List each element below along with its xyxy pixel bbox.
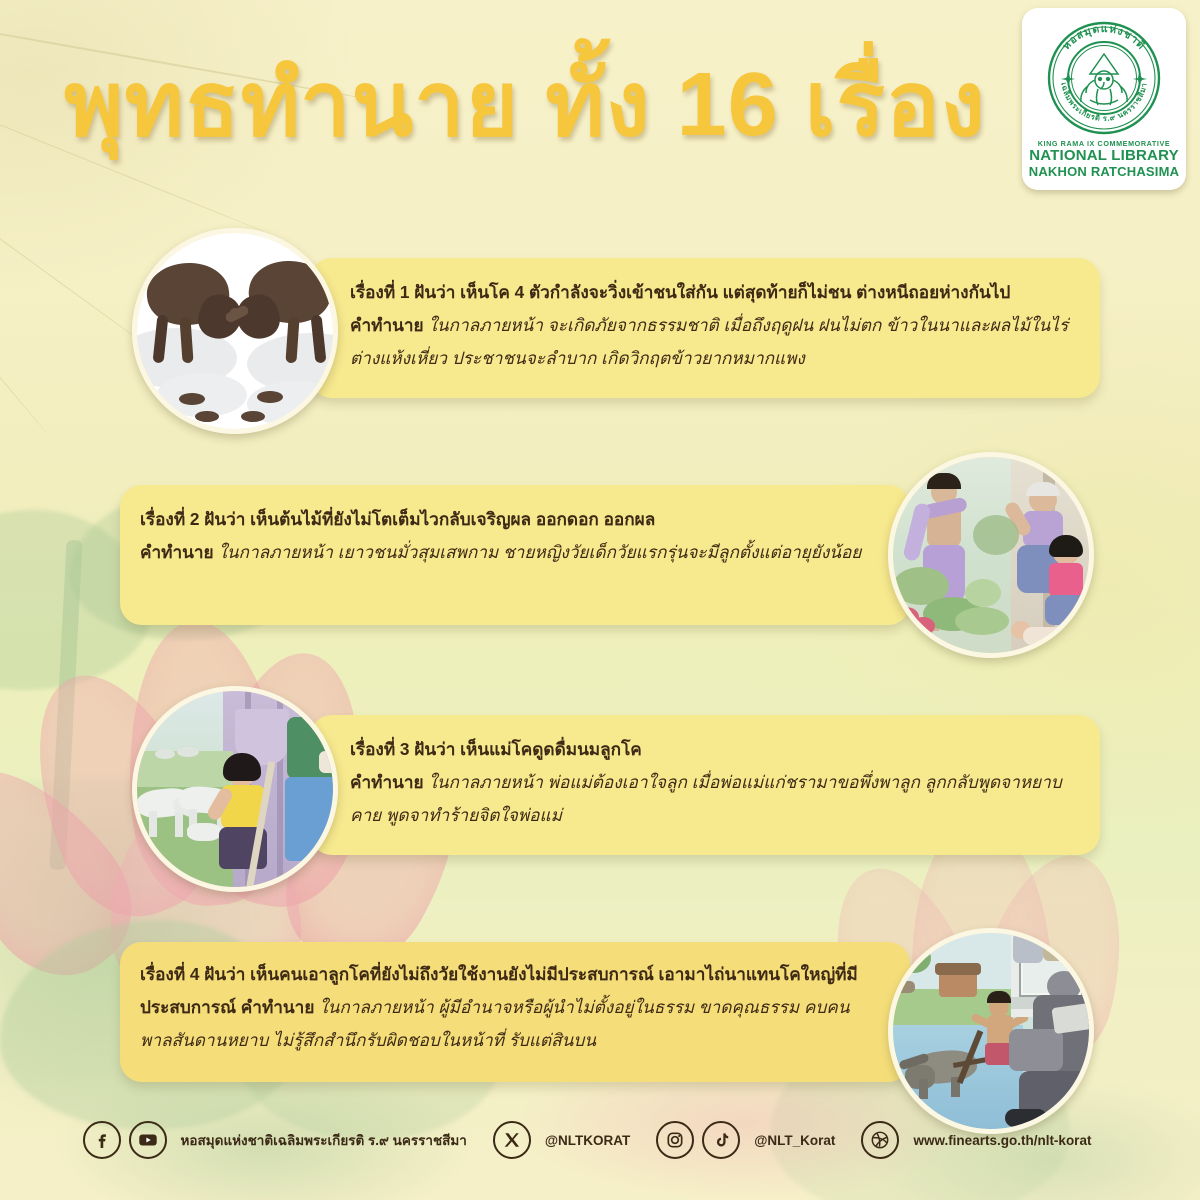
facebook-icon[interactable]	[83, 1121, 121, 1159]
footer-label-x: @NLTKORAT	[545, 1133, 630, 1148]
footer-item-x[interactable]: @NLTKORAT	[493, 1121, 656, 1159]
background-vein-line	[0, 181, 48, 435]
entry-1-prediction: ในกาลภายหน้า จะเกิดภัยจากธรรมชาติ เมื่อถ…	[350, 315, 1068, 368]
x-twitter-icon[interactable]	[493, 1121, 531, 1159]
logo-line-nakhon-ratchasima: NAKHON RATCHASIMA	[1029, 165, 1179, 180]
footer-item-youtube[interactable]: หอสมุดแห่งชาติเฉลิมพระเกียรติ ร.๙ นครราช…	[129, 1121, 493, 1159]
entry-1-illustration	[132, 228, 338, 434]
globe-web-icon[interactable]	[861, 1121, 899, 1159]
entry-2-prediction: ในกาลภายหน้า เยาวชนมั่วสุมเสพกาม ชายหญิง…	[218, 542, 861, 562]
page-title: พุทธทำนาย ทั้ง 16 เรื่อง	[0, 58, 1200, 153]
entry-2-text: เรื่องที่ 2 ฝันว่า เห็นต้นไม้ที่ยังไม่โต…	[140, 503, 875, 569]
footer-item-tiktok[interactable]: @NLT_Korat	[702, 1121, 861, 1159]
entry-2-prediction-label: คำทำนาย	[140, 542, 214, 562]
entry-2-lead: เรื่องที่ 2 ฝันว่า เห็นต้นไม้ที่ยังไม่โต…	[140, 509, 655, 529]
entry-3-prediction-label: คำทำนาย	[350, 772, 424, 792]
svg-text:หอสมุดแห่งชาติ: หอสมุดแห่งชาติ	[1060, 23, 1147, 52]
entry-3-prediction: ในกาลภายหน้า พ่อแม่ต้องเอาใจลูก เมื่อพ่อ…	[350, 772, 1062, 825]
entry-3-text: เรื่องที่ 3 ฝันว่า เห็นแม่โคดูดดื่มนมลูก…	[350, 733, 1090, 832]
seal-top-text: หอสมุดแห่งชาติ	[1060, 23, 1147, 52]
footer-label-tiktok: @NLT_Korat	[754, 1133, 835, 1148]
footer-item-instagram[interactable]	[656, 1121, 702, 1159]
youtube-icon[interactable]	[129, 1121, 167, 1159]
national-library-logo: หอสมุดแห่งชาติ เฉลิมพระเกียรติ ร.๙ นครรา…	[1022, 8, 1186, 190]
entry-1-text: เรื่องที่ 1 ฝันว่า เห็นโค 4 ตัวกำลังจะวิ…	[350, 276, 1090, 375]
footer-label-website: www.finearts.go.th/nlt-korat	[913, 1133, 1091, 1148]
logo-line-national-library: NATIONAL LIBRARY	[1029, 148, 1179, 165]
tiktok-icon[interactable]	[702, 1121, 740, 1159]
footer-item-website[interactable]: www.finearts.go.th/nlt-korat	[861, 1121, 1117, 1159]
instagram-icon[interactable]	[656, 1121, 694, 1159]
logo-english-text: KING RAMA IX COMMEMORATIVE NATIONAL LIBR…	[1029, 140, 1179, 179]
poster-root: พุทธทำนาย ทั้ง 16 เรื่อง	[0, 0, 1200, 1200]
entry-4-prediction-label: คำทำนาย	[241, 997, 315, 1017]
entry-1-lead: เรื่องที่ 1 ฝันว่า เห็นโค 4 ตัวกำลังจะวิ…	[350, 282, 1010, 302]
entry-1-prediction-label: คำทำนาย	[350, 315, 424, 335]
library-seal-icon: หอสมุดแห่งชาติ เฉลิมพระเกียรติ ร.๙ นครรา…	[1042, 16, 1166, 140]
footer-label-youtube: หอสมุดแห่งชาติเฉลิมพระเกียรติ ร.๙ นครราช…	[181, 1129, 467, 1151]
entry-3-lead: เรื่องที่ 3 ฝันว่า เห็นแม่โคดูดดื่มนมลูก…	[350, 739, 642, 759]
entry-2-illustration	[888, 452, 1094, 658]
entry-3-illustration	[132, 686, 338, 892]
footer-social-bar: หอสมุดแห่งชาติเฉลิมพระเกียรติ ร.๙ นครราช…	[0, 1080, 1200, 1200]
footer-item-facebook[interactable]	[83, 1121, 129, 1159]
entry-4-text: เรื่องที่ 4 ฝันว่า เห็นคนเอาลูกโคที่ยังไ…	[140, 958, 875, 1057]
